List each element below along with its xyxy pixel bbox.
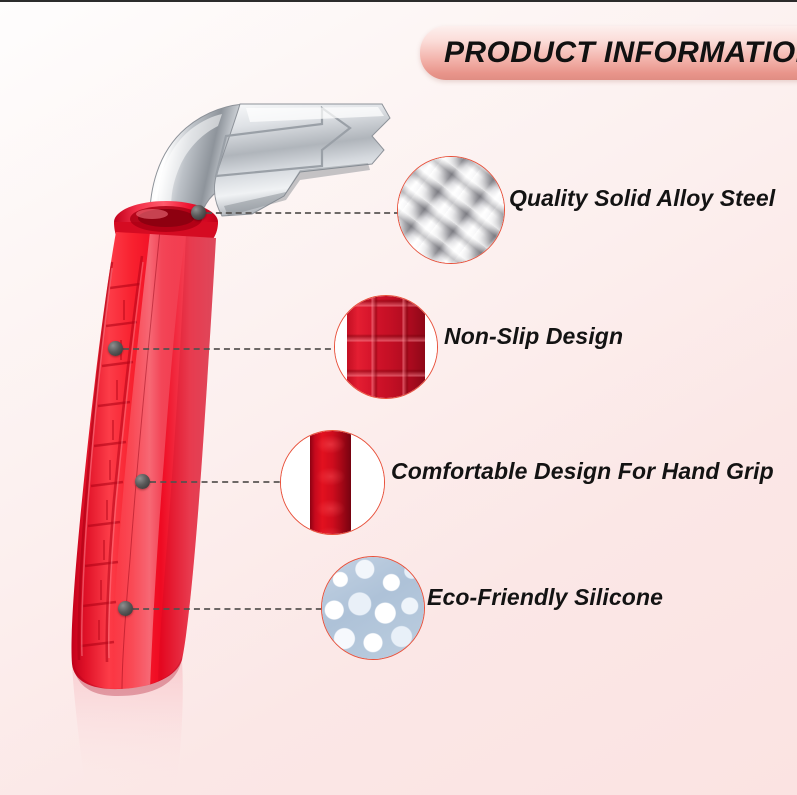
- callout-image-alloy-steel: [397, 156, 505, 264]
- callout-label-alloy-steel: Quality Solid Alloy Steel: [509, 185, 775, 212]
- callout-label-non-slip: Non-Slip Design: [444, 323, 623, 350]
- product-information-infographic: PRODUCT INFORMATION Quality Solid Alloy …: [0, 0, 797, 795]
- callout-label-hand-grip: Comfortable Design For Hand Grip: [391, 458, 774, 485]
- callout-image-silicone: [321, 556, 425, 660]
- leader-line-non-slip: [123, 348, 341, 350]
- grip-texture-body: [347, 295, 425, 399]
- alloy-steel-bars-photo: [398, 157, 504, 263]
- banner-title: PRODUCT INFORMATION: [444, 36, 797, 70]
- leader-line-silicone: [133, 608, 332, 610]
- leader-dot-silicone: [118, 601, 133, 616]
- leader-dot-non-slip: [108, 341, 123, 356]
- product-information-banner: PRODUCT INFORMATION: [420, 26, 797, 80]
- silicone-pellets-photo: [322, 557, 424, 659]
- callout-label-silicone: Eco-Friendly Silicone: [427, 584, 663, 611]
- leader-line-alloy-steel: [206, 212, 400, 214]
- leader-dot-alloy-steel: [191, 205, 206, 220]
- callout-image-non-slip: [334, 295, 438, 399]
- callout-image-hand-grip: [280, 430, 385, 535]
- red-textured-grip-photo: [335, 296, 437, 398]
- leader-dot-hand-grip: [135, 474, 150, 489]
- leader-line-hand-grip: [150, 481, 290, 483]
- silicone-handle: [71, 230, 216, 696]
- smooth-red-handle-photo: [281, 431, 384, 534]
- handle-band: [310, 430, 351, 535]
